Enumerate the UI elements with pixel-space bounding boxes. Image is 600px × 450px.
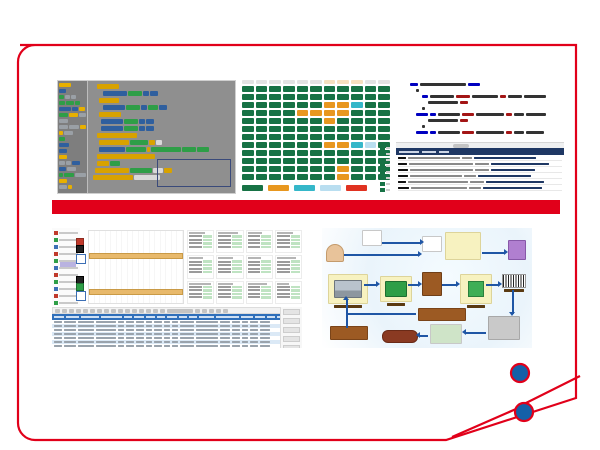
toolbar-icon[interactable] bbox=[76, 309, 81, 313]
table-cell bbox=[180, 341, 194, 343]
table-cell bbox=[136, 325, 144, 327]
grid-side-row bbox=[380, 176, 390, 180]
grid-cell bbox=[269, 86, 281, 92]
table-cell bbox=[164, 341, 170, 343]
table-cell bbox=[78, 341, 94, 343]
table-cell bbox=[172, 325, 178, 327]
table-cell bbox=[172, 341, 178, 343]
parameter-key bbox=[248, 246, 261, 248]
block-segment bbox=[99, 140, 129, 145]
grid-side-swatch bbox=[380, 188, 385, 192]
toolbar-icon[interactable] bbox=[62, 309, 67, 313]
grid-row bbox=[242, 118, 390, 124]
block-segment bbox=[128, 91, 142, 96]
table-cell bbox=[260, 333, 270, 335]
palette-chip bbox=[66, 101, 74, 105]
table-cell bbox=[180, 345, 194, 347]
log-row bbox=[398, 186, 562, 191]
palette-chip bbox=[68, 185, 72, 189]
code-token bbox=[506, 131, 512, 134]
grid-cell bbox=[256, 94, 268, 100]
table-cell bbox=[164, 325, 170, 327]
gantt-label-swatch bbox=[54, 266, 58, 270]
table-cell bbox=[250, 321, 258, 323]
flow-arrow bbox=[420, 335, 428, 337]
table-cell bbox=[154, 333, 162, 335]
grid-side-swatch bbox=[380, 176, 385, 180]
log-row bbox=[398, 168, 562, 173]
code-token bbox=[428, 101, 458, 104]
parameter-row bbox=[218, 260, 241, 263]
parameter-block bbox=[187, 230, 214, 253]
log-message bbox=[486, 181, 544, 183]
grid-cell bbox=[324, 110, 336, 116]
parameter-key bbox=[218, 239, 231, 241]
grid-cell bbox=[256, 150, 268, 156]
palette-chip bbox=[59, 125, 68, 129]
table-cell bbox=[242, 325, 248, 327]
grid-side-swatch bbox=[380, 170, 385, 174]
parameter-block-title bbox=[277, 283, 289, 285]
grid-cell bbox=[337, 166, 349, 172]
code-token bbox=[514, 131, 524, 134]
grid-cell bbox=[351, 110, 363, 116]
grid-side-row bbox=[380, 146, 390, 150]
grid-cell bbox=[297, 86, 309, 92]
grid-row bbox=[242, 86, 390, 92]
grid-side-text bbox=[386, 171, 390, 173]
gantt-bar bbox=[89, 289, 183, 295]
gantt-label-row bbox=[54, 287, 78, 291]
table-cell bbox=[54, 321, 62, 323]
table-cell bbox=[54, 337, 62, 339]
toolbar-icon[interactable] bbox=[118, 309, 123, 313]
flow-arrowhead bbox=[509, 312, 515, 316]
gantt-label-row bbox=[54, 238, 78, 242]
grid-cell bbox=[351, 134, 363, 140]
table-cell bbox=[64, 329, 76, 331]
parameter-key bbox=[218, 289, 231, 291]
toolbar-icon[interactable] bbox=[223, 309, 228, 313]
table-column-header bbox=[124, 316, 132, 318]
grid-cell bbox=[324, 126, 336, 132]
panel-gantt-spreadsheet bbox=[52, 228, 302, 348]
palette-block bbox=[59, 155, 86, 159]
code-line bbox=[428, 101, 560, 104]
block-statement bbox=[97, 84, 233, 89]
parameter-row bbox=[277, 296, 300, 299]
table-cell bbox=[126, 345, 134, 347]
parameter-value bbox=[261, 235, 270, 238]
parameter-row bbox=[277, 286, 300, 289]
parameter-row bbox=[218, 267, 241, 270]
gantt-timeline-grid bbox=[88, 230, 184, 304]
parameter-row bbox=[189, 267, 212, 270]
parameter-row bbox=[248, 267, 271, 270]
side-button[interactable] bbox=[283, 345, 300, 348]
parameter-row bbox=[189, 239, 212, 242]
block-statement bbox=[103, 91, 233, 96]
checklist-box bbox=[445, 232, 481, 260]
toolbar-icon[interactable] bbox=[55, 309, 60, 313]
table-cell bbox=[260, 329, 270, 331]
parameter-value bbox=[291, 239, 300, 242]
flow-arrowhead bbox=[456, 281, 460, 287]
grid-cell bbox=[351, 126, 363, 132]
log-time bbox=[470, 181, 484, 183]
parameter-row bbox=[248, 239, 271, 242]
palette-block bbox=[59, 95, 86, 99]
grid-cell bbox=[324, 94, 336, 100]
toolbar-icon[interactable] bbox=[209, 309, 214, 313]
gantt-label-row bbox=[54, 252, 78, 256]
table-cell bbox=[172, 337, 178, 339]
palette-block bbox=[59, 131, 86, 135]
parameter-block-title bbox=[277, 257, 296, 259]
table-cell bbox=[242, 337, 248, 339]
parameter-key bbox=[277, 264, 290, 266]
table-cell bbox=[146, 321, 152, 323]
flow-arrowhead bbox=[418, 251, 422, 257]
side-button[interactable] bbox=[283, 309, 300, 315]
code-token bbox=[422, 107, 425, 110]
side-button[interactable] bbox=[283, 327, 300, 333]
parameter-block bbox=[275, 255, 302, 278]
toolbar-icon[interactable] bbox=[153, 309, 158, 313]
block-segment bbox=[97, 161, 109, 166]
parameter-key bbox=[248, 235, 261, 237]
table-cell bbox=[232, 329, 240, 331]
table-column-header bbox=[241, 316, 253, 318]
side-button[interactable] bbox=[283, 336, 300, 342]
palette-chip bbox=[59, 107, 71, 111]
grid-cell bbox=[310, 118, 322, 124]
table-cell bbox=[146, 337, 152, 339]
log-message bbox=[474, 157, 536, 159]
grid-cell bbox=[297, 102, 309, 108]
code-token bbox=[422, 95, 428, 98]
table-cell bbox=[96, 329, 116, 331]
parameter-value bbox=[232, 289, 241, 292]
block-segment bbox=[103, 105, 125, 110]
grid-cell bbox=[310, 158, 322, 164]
table-cell bbox=[154, 321, 162, 323]
parameter-block bbox=[216, 230, 243, 253]
parameter-row bbox=[248, 271, 271, 274]
grid-cell bbox=[242, 142, 254, 148]
grid-side-row bbox=[380, 170, 390, 174]
table-cell bbox=[196, 329, 218, 331]
grid-cell bbox=[256, 86, 268, 92]
parameter-value bbox=[261, 260, 270, 263]
block-segment bbox=[139, 119, 145, 124]
grid-side-swatch bbox=[380, 152, 385, 156]
toolbar-icon[interactable] bbox=[104, 309, 109, 313]
grid-cell bbox=[310, 102, 322, 108]
log-message bbox=[478, 175, 531, 177]
grid-row bbox=[242, 150, 390, 156]
grid-side-swatch bbox=[380, 164, 385, 168]
parameter-row bbox=[248, 242, 271, 245]
grid-cell bbox=[269, 134, 281, 140]
parameter-value bbox=[232, 235, 241, 238]
block-segment bbox=[97, 133, 137, 138]
grid-side-text bbox=[386, 159, 390, 161]
palette-block bbox=[59, 173, 86, 177]
archive-icon bbox=[508, 240, 526, 260]
table-cell bbox=[118, 333, 124, 335]
flow-node-system bbox=[422, 236, 442, 252]
flow-node-putaway bbox=[430, 324, 462, 344]
toolbar-icon[interactable] bbox=[83, 309, 88, 313]
parameter-row bbox=[277, 271, 300, 274]
table-column-header bbox=[157, 316, 165, 318]
flow-arrowhead bbox=[498, 281, 502, 287]
parameter-value bbox=[203, 235, 212, 238]
block-segment bbox=[146, 119, 154, 124]
code-token bbox=[430, 131, 436, 134]
grid-cell bbox=[310, 174, 322, 180]
parameter-value bbox=[203, 242, 212, 245]
table-column-header bbox=[146, 316, 156, 318]
parameter-key bbox=[248, 264, 261, 266]
parameter-row bbox=[277, 293, 300, 296]
table-column-header bbox=[255, 316, 265, 318]
parameter-value bbox=[261, 267, 270, 270]
grid-row bbox=[242, 102, 390, 108]
parameter-key bbox=[218, 242, 231, 244]
table-column-header bbox=[267, 316, 275, 318]
code-token bbox=[422, 125, 425, 128]
flow-node-scan-confirm bbox=[488, 316, 520, 340]
parameter-key bbox=[248, 261, 261, 263]
grid-column-header bbox=[337, 80, 349, 84]
table-cell bbox=[172, 321, 178, 323]
code-line bbox=[422, 125, 560, 128]
block-statement bbox=[99, 112, 233, 117]
table-cell bbox=[172, 345, 178, 347]
grid-cell bbox=[378, 118, 390, 124]
grid-cell bbox=[283, 86, 295, 92]
grid-column-header bbox=[365, 80, 377, 84]
block-segment bbox=[93, 175, 133, 180]
palette-chip bbox=[59, 113, 68, 117]
parameter-row bbox=[218, 235, 241, 238]
parameter-key bbox=[277, 242, 290, 244]
toolbar-icon[interactable] bbox=[139, 309, 144, 313]
code-token bbox=[476, 131, 504, 134]
block-statement bbox=[101, 119, 233, 124]
table-cell bbox=[154, 345, 162, 347]
palette-chip bbox=[59, 149, 67, 153]
code-line bbox=[422, 107, 560, 110]
palette-chip bbox=[79, 113, 86, 117]
grid-cell bbox=[365, 174, 377, 180]
table-cell bbox=[136, 321, 144, 323]
log-source bbox=[411, 187, 467, 189]
parameter-block-title bbox=[248, 283, 267, 285]
table-cell bbox=[242, 333, 248, 335]
palette-chip bbox=[66, 161, 71, 165]
table-cell bbox=[164, 345, 170, 347]
gantt-label-swatch bbox=[54, 294, 58, 298]
grid-cell bbox=[310, 166, 322, 172]
parameter-row bbox=[277, 235, 300, 238]
palette-chip bbox=[71, 95, 76, 99]
parameter-key bbox=[218, 293, 231, 295]
palette-block bbox=[59, 179, 86, 183]
log-message bbox=[491, 163, 549, 165]
palette-chip bbox=[59, 83, 71, 87]
grid-cell bbox=[297, 118, 309, 124]
grid-side-swatch bbox=[380, 182, 385, 186]
grid-side-row bbox=[380, 152, 390, 156]
table-cell bbox=[164, 337, 170, 339]
toolbar-icon[interactable] bbox=[69, 309, 74, 313]
table-cell bbox=[180, 325, 194, 327]
toolbar-icon[interactable] bbox=[125, 309, 130, 313]
toolbar-icon[interactable] bbox=[160, 309, 165, 313]
nonconforming-area-box bbox=[418, 308, 466, 321]
spreadsheet-toolbar[interactable] bbox=[52, 307, 302, 314]
log-message bbox=[483, 187, 542, 189]
code-token bbox=[472, 95, 498, 98]
grid-cell bbox=[297, 158, 309, 164]
parameter-row bbox=[218, 296, 241, 299]
parameter-row bbox=[277, 260, 300, 263]
parameter-key bbox=[277, 289, 290, 291]
parameter-value bbox=[291, 264, 300, 267]
parameter-value bbox=[203, 267, 212, 270]
grid-cell bbox=[378, 102, 390, 108]
grid-cell bbox=[256, 158, 268, 164]
code-token bbox=[500, 95, 506, 98]
legend-chip bbox=[268, 185, 289, 191]
grid-cell bbox=[283, 174, 295, 180]
grid-cell bbox=[242, 102, 254, 108]
table-cell bbox=[260, 341, 270, 343]
grid-cell bbox=[351, 102, 363, 108]
parameter-row bbox=[189, 286, 212, 289]
code-token bbox=[462, 131, 474, 134]
grid-cell bbox=[242, 94, 254, 100]
grid-cell bbox=[242, 166, 254, 172]
flow-arrowhead bbox=[420, 239, 424, 245]
toolbar-icon[interactable] bbox=[202, 309, 207, 313]
flow-node-nonconforming-store bbox=[330, 326, 368, 340]
toolbar-icon[interactable] bbox=[111, 309, 116, 313]
parameter-row bbox=[189, 235, 212, 238]
parameter-key bbox=[277, 268, 290, 270]
code-line bbox=[416, 89, 560, 92]
palette-chip bbox=[72, 107, 78, 111]
grid-cell bbox=[256, 134, 268, 140]
table-cell bbox=[232, 325, 240, 327]
parameter-row bbox=[277, 267, 300, 270]
parameter-key bbox=[218, 261, 231, 263]
table-cell bbox=[250, 329, 258, 331]
table-cell bbox=[136, 341, 144, 343]
parameter-value bbox=[232, 246, 241, 249]
block-segment bbox=[143, 91, 149, 96]
table-cell bbox=[126, 329, 134, 331]
code-token bbox=[416, 89, 419, 92]
toolbar-icon[interactable] bbox=[90, 309, 95, 313]
toolbar-icon[interactable] bbox=[132, 309, 137, 313]
grid-cell bbox=[337, 110, 349, 116]
legend-chip bbox=[242, 185, 263, 191]
grid-cell bbox=[324, 166, 336, 172]
grid-column-header bbox=[269, 80, 281, 84]
grid-row bbox=[242, 142, 390, 148]
grid-cell bbox=[283, 126, 295, 132]
code-line bbox=[428, 119, 560, 122]
log-level bbox=[398, 181, 406, 183]
parameter-key bbox=[218, 235, 231, 237]
parameter-value bbox=[261, 271, 270, 274]
grid-cell-matrix bbox=[242, 86, 390, 180]
spreadsheet-side-buttons[interactable] bbox=[280, 307, 302, 348]
table-cell bbox=[154, 329, 162, 331]
parameter-value bbox=[291, 260, 300, 263]
side-button[interactable] bbox=[283, 318, 300, 324]
toolbar-icon[interactable] bbox=[195, 309, 200, 313]
grid-cell bbox=[283, 134, 295, 140]
grid-cell bbox=[269, 142, 281, 148]
toolbar-icon[interactable] bbox=[146, 309, 151, 313]
toolbar-icon[interactable] bbox=[97, 309, 102, 313]
grid-cell bbox=[256, 142, 268, 148]
block-segment bbox=[99, 147, 125, 152]
table-cell bbox=[136, 345, 144, 347]
gantt-label-swatch bbox=[54, 238, 58, 242]
parameter-value bbox=[261, 246, 270, 249]
parameter-value bbox=[261, 293, 270, 296]
grid-cell bbox=[283, 110, 295, 116]
table-column-header bbox=[134, 316, 144, 318]
palette-chip bbox=[75, 173, 86, 177]
code-token bbox=[468, 83, 480, 86]
toolbar-icon[interactable] bbox=[167, 309, 193, 313]
node-connector-1 bbox=[452, 409, 516, 437]
palette-block bbox=[59, 167, 86, 171]
toolbar-icon[interactable] bbox=[216, 309, 221, 313]
log-row bbox=[398, 156, 562, 161]
parameter-value bbox=[203, 264, 212, 267]
grid-cell bbox=[351, 142, 363, 148]
table-cell bbox=[172, 333, 178, 335]
log-level bbox=[398, 175, 408, 177]
block-segment bbox=[124, 126, 138, 131]
grid-side-text bbox=[386, 153, 390, 155]
grid-cell bbox=[297, 126, 309, 132]
panel-ide bbox=[396, 80, 564, 192]
table-cell bbox=[250, 333, 258, 335]
parameter-value bbox=[203, 296, 212, 299]
grid-cell bbox=[242, 174, 254, 180]
grid-cell bbox=[324, 86, 336, 92]
code-token bbox=[460, 101, 468, 104]
parameter-block-title bbox=[218, 257, 233, 259]
inbound-complete-pill bbox=[382, 330, 418, 343]
gantt-label-row bbox=[54, 301, 78, 305]
grid-row bbox=[242, 166, 390, 172]
parameter-key bbox=[248, 268, 261, 270]
grid-cell bbox=[242, 126, 254, 132]
grid-cell bbox=[365, 166, 377, 172]
grid-side-row bbox=[380, 188, 390, 192]
table-cell bbox=[118, 341, 124, 343]
